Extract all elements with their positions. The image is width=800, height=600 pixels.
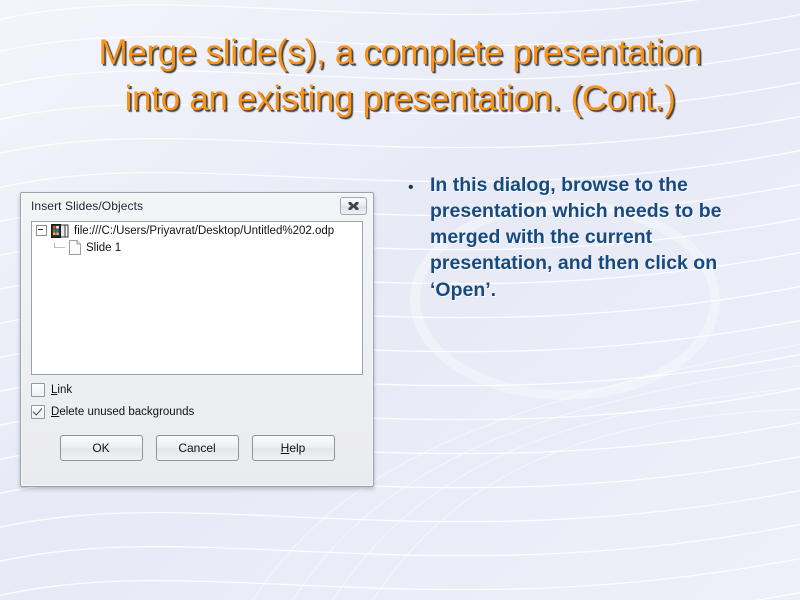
slides-tree-panel[interactable]: file:///C:/Users/Priyavrat/Desktop/Untit…	[31, 221, 363, 375]
slide-canvas: Merge slide(s), a complete presentation …	[0, 0, 800, 600]
checkbox-delete-unused-backgrounds[interactable]: Delete unused backgrounds	[31, 405, 194, 419]
page-title-line-2: into an existing presentation. (Cont.)	[30, 76, 770, 122]
tree-child-label: Slide 1	[86, 242, 121, 254]
tree-root-label: file:///C:/Users/Priyavrat/Desktop/Untit…	[74, 225, 334, 237]
close-icon[interactable]	[340, 197, 367, 215]
checkbox-link[interactable]: Link	[31, 383, 72, 397]
tree-connector	[54, 243, 67, 252]
dialog-titlebar: Insert Slides/Objects	[21, 193, 373, 219]
dialog-title: Insert Slides/Objects	[31, 199, 143, 213]
checkbox-link-label: Link	[51, 384, 72, 396]
tree-row-slide-1[interactable]: Slide 1	[32, 239, 362, 256]
checkbox-delete-label: Delete unused backgrounds	[51, 406, 194, 418]
body-bullet-item: • In this dialog, browse to the presenta…	[408, 172, 768, 303]
minus-expander-icon[interactable]	[36, 225, 47, 236]
presentation-file-icon	[51, 224, 69, 238]
dialog-button-row: OK Cancel Help	[21, 435, 373, 461]
page-title: Merge slide(s), a complete presentation …	[30, 30, 770, 122]
body-text: In this dialog, browse to the presentati…	[430, 172, 740, 303]
slide-page-icon	[69, 240, 81, 255]
insert-slides-objects-dialog: Insert Slides/Objects	[20, 192, 374, 487]
help-button[interactable]: Help	[252, 435, 335, 461]
close-glyph	[347, 201, 360, 211]
cancel-button[interactable]: Cancel	[156, 435, 239, 461]
checkbox-delete-box[interactable]	[31, 405, 45, 419]
checkbox-link-box[interactable]	[31, 383, 45, 397]
tree-row-root[interactable]: file:///C:/Users/Priyavrat/Desktop/Untit…	[32, 222, 362, 239]
ok-button[interactable]: OK	[60, 435, 143, 461]
page-title-line-1: Merge slide(s), a complete presentation	[30, 30, 770, 76]
bullet-icon: •	[408, 180, 430, 196]
